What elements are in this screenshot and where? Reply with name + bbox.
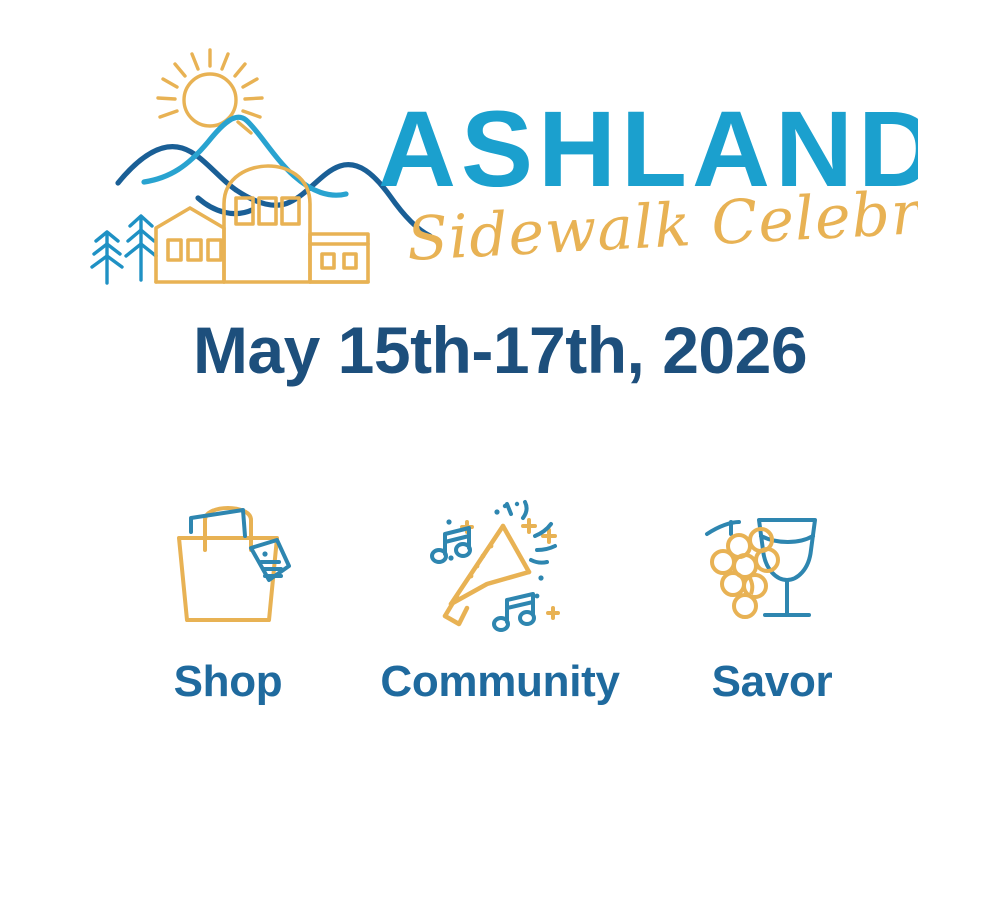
party-horn-confetti-icon xyxy=(425,488,575,638)
ashland-sidewalk-celebration-logo: ASHLAND Sidewalk Celebration xyxy=(78,38,918,298)
feature-label-community: Community xyxy=(380,660,619,704)
feature-row: Shop xyxy=(92,488,908,704)
storefront-buildings-icon xyxy=(156,166,368,282)
poster-canvas: ASHLAND Sidewalk Celebration May 15th-17… xyxy=(0,0,1000,900)
pine-trees-icon xyxy=(92,216,156,283)
shopping-bag-icon xyxy=(153,488,303,638)
feature-shop[interactable]: Shop xyxy=(92,488,364,704)
feature-community[interactable]: Community xyxy=(364,488,636,704)
feature-savor[interactable]: Savor xyxy=(636,488,908,704)
feature-label-savor: Savor xyxy=(712,660,833,704)
event-date: May 15th-17th, 2026 xyxy=(0,316,1000,385)
feature-label-shop: Shop xyxy=(174,660,283,704)
grapes-wine-glass-icon xyxy=(697,488,847,638)
